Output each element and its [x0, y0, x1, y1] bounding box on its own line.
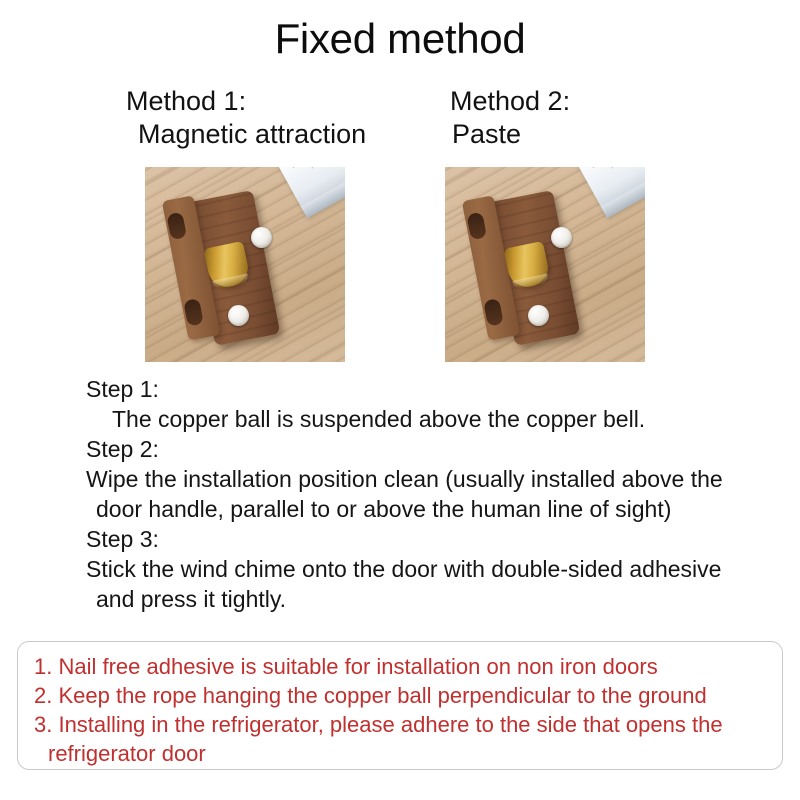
note-line-4: refrigerator door: [34, 739, 768, 768]
method-1-heading: Method 1: Magnetic attraction: [126, 85, 366, 151]
magnet-upper: [551, 227, 572, 248]
installation-steps: Step 1: The copper ball is suspended abo…: [86, 374, 776, 614]
note-line-2: 2. Keep the rope hanging the copper ball…: [34, 681, 768, 710]
bracket-notch-top: [466, 212, 487, 241]
method-2-heading: Method 2: Paste: [450, 85, 570, 151]
magnet-upper: [251, 227, 272, 248]
page-title: Fixed method: [0, 14, 800, 64]
method-2-name: Paste: [450, 118, 570, 151]
step-1-label: Step 1:: [86, 374, 776, 404]
method-1-label: Method 1:: [126, 85, 366, 118]
method-1-name: Magnetic attraction: [126, 118, 366, 151]
method-2-label: Method 2:: [450, 85, 570, 118]
step-1-line-1: The copper ball is suspended above the c…: [86, 404, 776, 434]
magnet-lower: [228, 305, 249, 326]
note-line-3: 3. Installing in the refrigerator, pleas…: [34, 710, 768, 739]
bracket-notch-top: [166, 212, 187, 241]
step-3-line-2: and press it tightly.: [86, 584, 776, 614]
step-2-line-2: door handle, parallel to or above the hu…: [86, 494, 776, 524]
bracket-notch-bottom: [483, 298, 504, 327]
bracket-notch-bottom: [183, 298, 204, 327]
warning-notes-box: 1. Nail free adhesive is suitable for in…: [17, 641, 783, 770]
step-3: Step 3: Stick the wind chime onto the do…: [86, 524, 776, 614]
step-3-label: Step 3:: [86, 524, 776, 554]
method-1-product-photo: 手工制作 风铃: [145, 167, 345, 362]
step-2: Step 2: Wipe the installation position c…: [86, 434, 776, 524]
note-line-1: 1. Nail free adhesive is suitable for in…: [34, 652, 768, 681]
magnet-lower: [528, 305, 549, 326]
step-2-line-1: Wipe the installation position clean (us…: [86, 464, 776, 494]
method-2-product-photo: 手工制作 风铃: [445, 167, 645, 362]
step-3-line-1: Stick the wind chime onto the door with …: [86, 554, 776, 584]
book-text-line-2: 风铃: [609, 167, 622, 171]
step-2-label: Step 2:: [86, 434, 776, 464]
step-1: Step 1: The copper ball is suspended abo…: [86, 374, 776, 434]
book-text-line-2: 风铃: [309, 167, 322, 171]
